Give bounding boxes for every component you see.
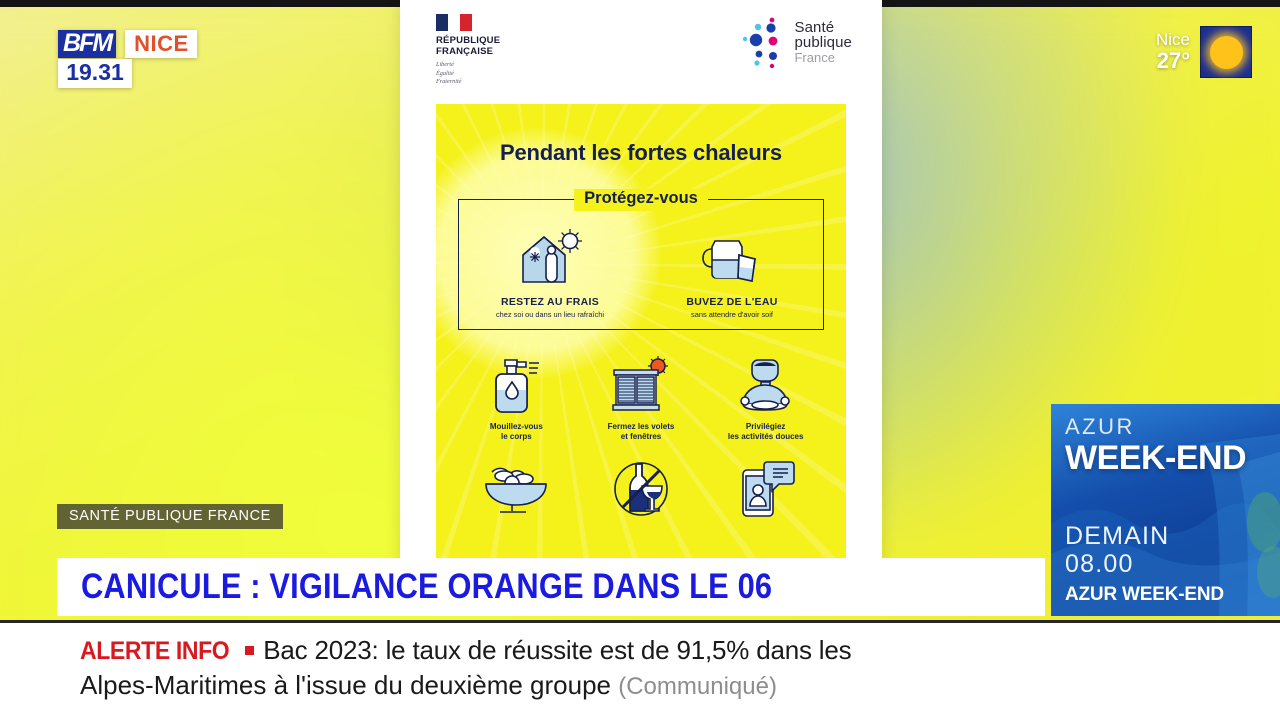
protect-yourself-box: Protégez-vous	[458, 199, 824, 330]
highlight-sub: sans attendre d'avoir soif	[691, 310, 773, 319]
ticker-note: (Communiqué)	[618, 673, 777, 700]
tip-check-on-others	[703, 456, 828, 518]
tip-wet-body: Mouillez-vous le corps	[454, 352, 579, 442]
promo-time: 08.00	[1065, 550, 1280, 578]
agency-line2: publique	[794, 35, 852, 50]
headline-text: CANICULE : VIGILANCE ORANGE DANS LE 06	[81, 567, 772, 607]
sun-icon	[1210, 36, 1243, 69]
tip-close-shutters: Fermez les volets et fenêtres	[579, 352, 704, 442]
headline-banner: CANICULE : VIGILANCE ORANGE DANS LE 06	[57, 558, 1045, 616]
poster-body: Pendant les fortes chaleurs Protégez-vou…	[436, 104, 846, 575]
tip-label-line1: Fermez les volets	[608, 422, 675, 431]
french-flag-icon	[436, 14, 472, 31]
weather-icon-box	[1200, 26, 1252, 78]
bfm-mark: BFM	[58, 30, 116, 58]
news-ticker: ALERTE INFO Bac 2023: le taux de réussit…	[0, 620, 1280, 720]
promo-kicker: AZUR	[1065, 416, 1280, 438]
salad-bowl-icon	[478, 462, 554, 518]
republic-line1: RÉPUBLIQUE	[436, 35, 556, 46]
poster-subtitle: Protégez-vous	[584, 189, 698, 207]
tip-label-line1: Mouillez-vous	[490, 422, 543, 431]
ticker-line-1: Bac 2023: le taux de réussite est de 91,…	[263, 635, 851, 666]
promo-title: WEEK-END	[1065, 440, 1280, 476]
motto-egalite: Égalité	[436, 70, 556, 78]
no-alcohol-icon	[610, 460, 672, 518]
tips-row-2	[454, 456, 828, 518]
motto-liberte: Liberté	[436, 61, 556, 69]
spf-dots-icon	[740, 16, 786, 68]
tip-label-line2: et fenêtres	[621, 432, 661, 441]
ticker-line-2: Alpes-Maritimes à l'issue du deuxième gr…	[80, 670, 611, 700]
broadcast-screen: RÉPUBLIQUE FRANÇAISE Liberté Égalité Fra…	[0, 0, 1280, 720]
water-jug-icon	[695, 227, 769, 289]
highlight-caption: BUVEZ DE L'EAU	[686, 296, 777, 308]
promo-show-name: AZUR WEEK-END	[1065, 584, 1280, 606]
tip-label-line2: le corps	[501, 432, 532, 441]
weather-widget: Nice 27°	[1156, 26, 1252, 78]
weather-temperature: 27°	[1156, 49, 1190, 74]
bfm-city-label: NICE	[125, 30, 197, 58]
agency-line3: France	[794, 51, 852, 64]
tip-gentle-activities: Privilégiez les activités douces	[703, 352, 828, 442]
spray-bottle-icon	[488, 356, 544, 416]
house-cool-icon	[513, 227, 587, 289]
health-poster: RÉPUBLIQUE FRANÇAISE Liberté Égalité Fra…	[400, 0, 882, 575]
motto-fraternite: Fraternité	[436, 78, 556, 86]
tip-no-alcohol	[579, 456, 704, 518]
tips-row-1: Mouillez-vous le corps	[454, 352, 828, 442]
tip-light-meals	[454, 456, 579, 518]
phone-message-icon	[735, 460, 797, 518]
bullet-icon	[245, 646, 254, 655]
weather-city: Nice	[1156, 30, 1190, 49]
highlight-drink-water: BUVEZ DE L'EAU sans attendre d'avoir soi…	[641, 200, 823, 329]
poster-title: Pendant les fortes chaleurs	[436, 140, 846, 166]
program-promo-box[interactable]: AZUR WEEK-END DEMAIN 08.00 AZUR WEEK-END	[1051, 404, 1280, 616]
agency-line1: Santé	[794, 20, 852, 35]
highlight-stay-cool: RESTEZ AU FRAIS chez soi ou dans un lieu…	[459, 200, 641, 329]
promo-day: DEMAIN	[1065, 522, 1280, 550]
poster-header: RÉPUBLIQUE FRANÇAISE Liberté Égalité Fra…	[400, 0, 882, 104]
shutters-sun-icon	[610, 356, 672, 416]
tip-label-line2: les activités douces	[728, 432, 804, 441]
republic-line2: FRANÇAISE	[436, 46, 556, 57]
republique-francaise-logo: RÉPUBLIQUE FRANÇAISE Liberté Égalité Fra…	[436, 14, 556, 86]
highlight-caption: RESTEZ AU FRAIS	[501, 296, 599, 308]
channel-logo: BFM NICE 19.31	[58, 30, 130, 88]
meditating-person-icon	[732, 356, 800, 416]
source-credit: SANTÉ PUBLIQUE FRANCE	[57, 504, 283, 529]
sante-publique-france-logo: Santé publique France	[740, 16, 852, 68]
on-screen-clock: 19.31	[58, 59, 132, 88]
highlight-sub: chez soi ou dans un lieu rafraîchi	[496, 310, 604, 319]
alert-badge: ALERTE INFO	[80, 637, 229, 666]
tip-label-line1: Privilégiez	[746, 422, 786, 431]
